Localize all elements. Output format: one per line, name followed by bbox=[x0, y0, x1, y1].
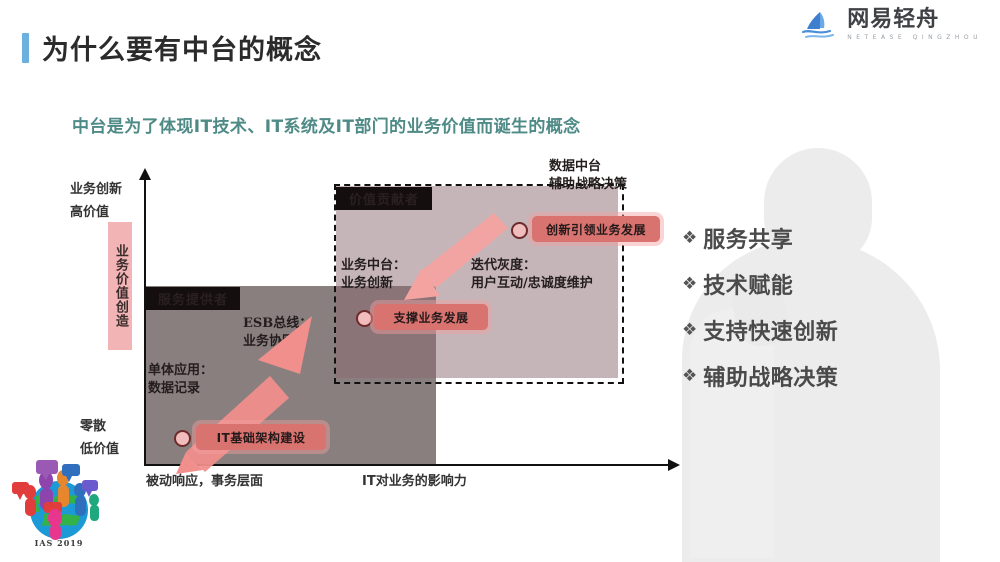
list-item: ❖ 辅助战略决策 bbox=[682, 360, 838, 392]
annotation-monolith-line2: 数据记录 bbox=[148, 380, 213, 398]
annotation-iter-line1: 迭代灰度： bbox=[471, 257, 593, 275]
annotation-data-middle-platform: 数据中台 辅助战略决策 bbox=[549, 158, 627, 193]
globe-people-icon bbox=[6, 452, 112, 544]
point-marker-it-infrastructure bbox=[174, 430, 191, 447]
logo-text: 网易轻舟 bbox=[847, 9, 982, 31]
bullet-label: 支持快速创新 bbox=[703, 314, 838, 346]
annotation-bizmid-line2: 业务创新 bbox=[341, 275, 406, 293]
subtitle-text: 中台是为了体现IT技术、IT系统及IT部门的业务价值而诞生的概念 bbox=[72, 112, 581, 137]
sailboat-icon bbox=[800, 9, 840, 41]
brand-logo: 网易轻舟 NetEase Qingzhou bbox=[800, 6, 982, 44]
diamond-bullet-icon: ❖ bbox=[682, 322, 697, 339]
logo-text-stack: 网易轻舟 NetEase Qingzhou bbox=[847, 9, 982, 41]
list-item: ❖ 服务共享 bbox=[682, 222, 838, 254]
benefits-list: ❖ 服务共享 ❖ 技术赋能 ❖ 支持快速创新 ❖ 辅助战略决策 bbox=[682, 222, 838, 406]
bullet-label: 服务共享 bbox=[703, 222, 793, 254]
diamond-bullet-icon: ❖ bbox=[682, 276, 697, 293]
zone-platform-chip: 价值贡献者 bbox=[336, 187, 432, 210]
value-matrix-chart: 服务提供者 价值贡献者 业务价值创造 业务创新 高价值 零散 低价值 被动响应，… bbox=[0, 0, 700, 520]
annotation-iter-line2: 用户互动/忠诚度维护 bbox=[471, 275, 593, 293]
annotation-monolith: 单体应用： 数据记录 bbox=[148, 362, 213, 397]
annotation-esb-line1: ESB总线： bbox=[243, 315, 312, 333]
zone-legacy-chip: 服务提供者 bbox=[146, 287, 240, 310]
bullet-label: 辅助战略决策 bbox=[703, 360, 838, 392]
bullet-label: 技术赋能 bbox=[703, 268, 793, 300]
x-axis-left-label: 被动响应，事务层面 bbox=[146, 470, 263, 489]
y-axis-top-label-2: 高价值 bbox=[70, 201, 109, 220]
annotation-iterative-gray: 迭代灰度： 用户互动/忠诚度维护 bbox=[471, 257, 593, 292]
title-text: 为什么要有中台的概念 bbox=[42, 28, 322, 67]
y-axis-arrowhead bbox=[139, 168, 151, 180]
point-label-it-infrastructure: IT基础架构建设 bbox=[196, 424, 326, 450]
annotation-bizmid-line1: 业务中台： bbox=[341, 257, 406, 275]
point-label-innovation-led: 创新引领业务发展 bbox=[532, 216, 660, 242]
annotation-data-line2: 辅助战略决策 bbox=[549, 176, 627, 194]
x-axis-line bbox=[144, 464, 670, 466]
y-axis-top-label-1: 业务创新 bbox=[70, 178, 122, 197]
point-marker-support-business bbox=[356, 310, 373, 327]
diamond-bullet-icon: ❖ bbox=[682, 230, 697, 247]
annotation-esb-bus: ESB总线： 业务协同 bbox=[243, 315, 312, 350]
annotation-monolith-line1: 单体应用： bbox=[148, 362, 213, 380]
list-item: ❖ 支持快速创新 bbox=[682, 314, 838, 346]
annotation-business-middle-platform: 业务中台： 业务创新 bbox=[341, 257, 406, 292]
title-accent-bar bbox=[22, 33, 29, 63]
slide-canvas: 网易轻舟 NetEase Qingzhou 为什么要有中台的概念 中台是为了体现… bbox=[0, 0, 1000, 562]
point-marker-innovation-led bbox=[511, 222, 528, 239]
value-creation-band: 业务价值创造 bbox=[108, 222, 132, 350]
point-label-support-business: 支撑业务发展 bbox=[374, 304, 488, 330]
ias-caption: IAS 2019 bbox=[6, 538, 112, 548]
y-axis-line bbox=[144, 178, 146, 466]
annotation-esb-line2: 业务协同 bbox=[243, 333, 312, 351]
diamond-bullet-icon: ❖ bbox=[682, 368, 697, 385]
annotation-data-line1: 数据中台 bbox=[549, 158, 627, 176]
logo-subtext: NetEase Qingzhou bbox=[847, 34, 982, 41]
page-title: 为什么要有中台的概念 bbox=[22, 28, 322, 67]
ias-logo: IAS 2019 bbox=[6, 452, 112, 556]
y-axis-bottom-label-1: 零散 bbox=[80, 415, 106, 434]
x-axis-right-label: IT对业务的影响力 bbox=[362, 470, 467, 489]
x-axis-arrowhead bbox=[668, 459, 680, 471]
list-item: ❖ 技术赋能 bbox=[682, 268, 838, 300]
